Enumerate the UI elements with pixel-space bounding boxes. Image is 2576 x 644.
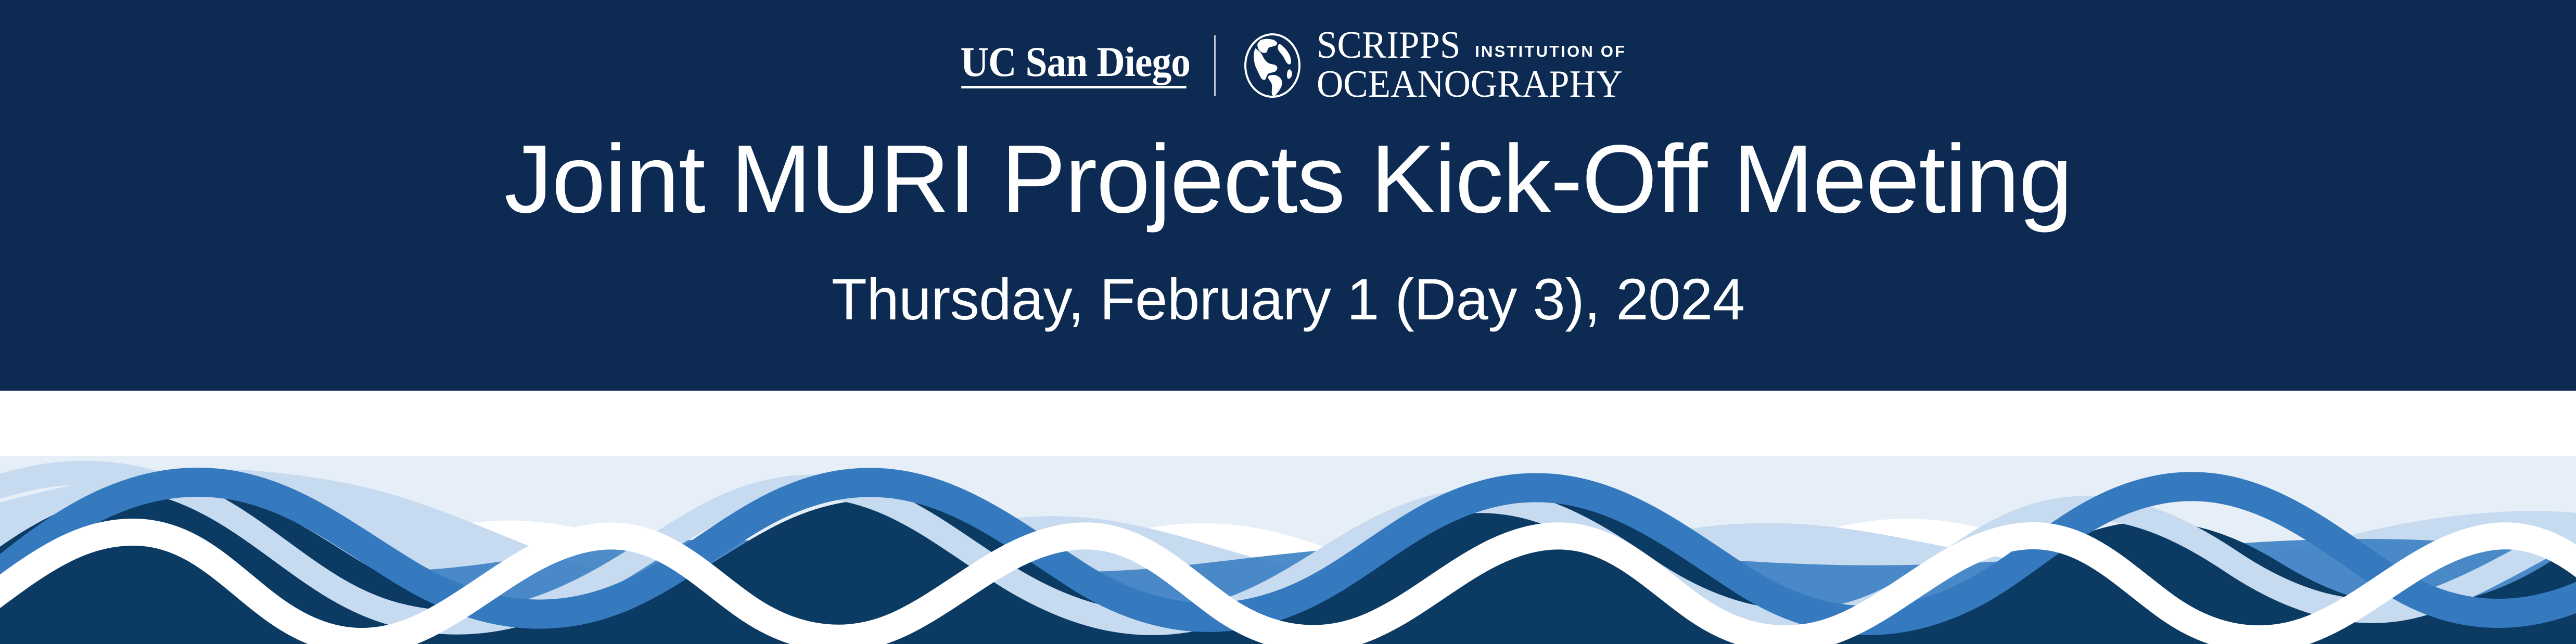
page-title: Joint MURI Projects Kick-Off Meeting	[0, 131, 2576, 228]
header-band: UC San Diego SCRIPPS INS	[0, 0, 2576, 391]
wave-motif-svg	[0, 391, 2576, 644]
page-subtitle: Thursday, February 1 (Day 3), 2024	[0, 271, 2576, 329]
scripps-word: SCRIPPS	[1317, 27, 1460, 64]
ucsd-logo[interactable]: UC San Diego	[940, 41, 1190, 91]
ucsd-wordmark-text: UC San Diego	[961, 41, 1191, 91]
scripps-text: SCRIPPS INSTITUTION OF OCEANOGRAPHY	[1317, 27, 1636, 105]
scripps-logo[interactable]: SCRIPPS INSTITUTION OF OCEANOGRAPHY	[1240, 27, 1636, 105]
logo-divider	[1214, 35, 1216, 96]
logo-lockup: UC San Diego SCRIPPS INS	[0, 27, 2576, 105]
ucsd-underline	[961, 86, 1187, 88]
event-banner: UC San Diego SCRIPPS INS	[0, 0, 2576, 644]
scripps-oceanography: OCEANOGRAPHY	[1317, 65, 1623, 104]
wave-graphic	[0, 391, 2576, 644]
scripps-institution-of: INSTITUTION OF	[1475, 43, 1626, 64]
globe-icon	[1240, 33, 1305, 98]
